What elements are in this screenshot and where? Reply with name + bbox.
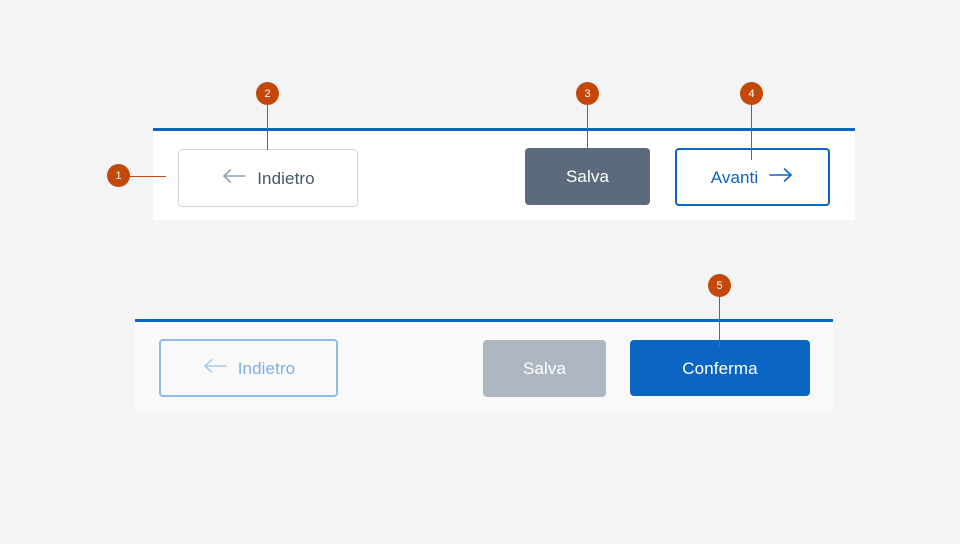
callout-badge-3-label: 3 bbox=[584, 88, 590, 100]
enabled-action-bar: Indietro Salva Avanti bbox=[153, 128, 855, 220]
callout-badge-4: 4 bbox=[740, 82, 763, 105]
callout-badge-2-label: 2 bbox=[264, 88, 270, 100]
annotation-stage: Indietro Salva Avanti Indietro Salva bbox=[0, 0, 960, 544]
save-button-disabled: Salva bbox=[483, 340, 606, 397]
callout-leader-5 bbox=[719, 297, 720, 347]
callout-leader-2 bbox=[267, 105, 268, 150]
back-button-disabled-label: Indietro bbox=[238, 360, 296, 377]
callout-leader-4 bbox=[751, 105, 752, 160]
callout-badge-1: 1 bbox=[107, 164, 130, 187]
next-button-label: Avanti bbox=[711, 169, 759, 186]
disabled-action-bar: Indietro Salva Conferma bbox=[135, 319, 833, 413]
callout-badge-1-label: 1 bbox=[115, 170, 121, 182]
arrow-left-icon bbox=[221, 168, 247, 189]
back-button-label: Indietro bbox=[257, 170, 315, 187]
arrow-left-icon bbox=[202, 358, 228, 379]
callout-badge-5-label: 5 bbox=[716, 280, 722, 292]
next-button[interactable]: Avanti bbox=[675, 148, 830, 206]
back-button[interactable]: Indietro bbox=[178, 149, 358, 207]
save-button-label: Salva bbox=[566, 168, 609, 185]
callout-leader-3 bbox=[587, 105, 588, 160]
confirm-button-label: Conferma bbox=[682, 360, 757, 377]
save-button-disabled-label: Salva bbox=[523, 360, 566, 377]
callout-badge-3: 3 bbox=[576, 82, 599, 105]
callout-badge-5: 5 bbox=[708, 274, 731, 297]
arrow-right-icon bbox=[768, 167, 794, 188]
confirm-button[interactable]: Conferma bbox=[630, 340, 810, 396]
callout-leader-1 bbox=[130, 176, 166, 177]
back-button-disabled: Indietro bbox=[159, 339, 338, 397]
callout-badge-2: 2 bbox=[256, 82, 279, 105]
callout-badge-4-label: 4 bbox=[748, 88, 754, 100]
